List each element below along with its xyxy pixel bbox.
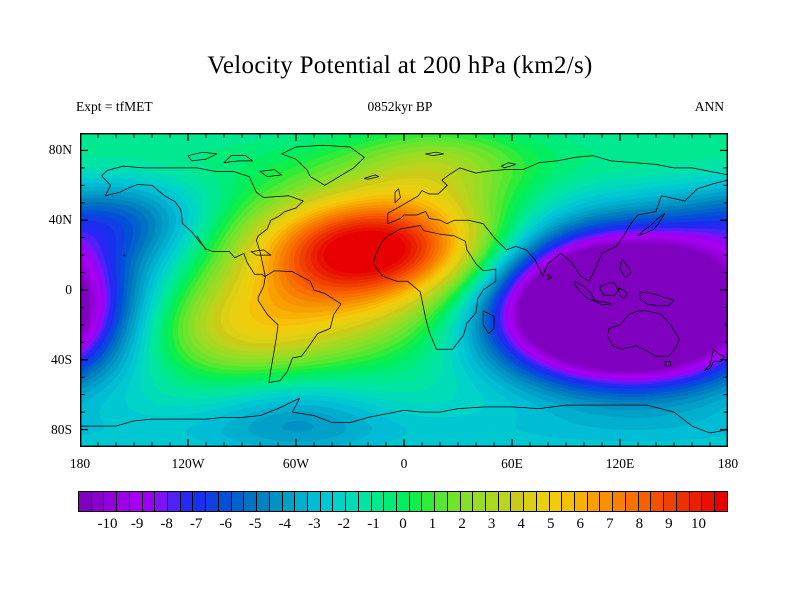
- colorbar-strip[interactable]: [78, 491, 728, 512]
- colorbar-cell: [333, 492, 346, 511]
- colorbar: [78, 491, 728, 512]
- contour-map-svg: [80, 133, 728, 447]
- colorbar-cell: [295, 492, 308, 511]
- y-tick-label: 40N: [26, 213, 72, 226]
- colorbar-cell: [143, 492, 156, 511]
- x-tick-label: 180: [698, 456, 758, 472]
- colorbar-cell: [283, 492, 296, 511]
- colorbar-cell: [537, 492, 550, 511]
- colorbar-cell: [130, 492, 143, 511]
- colorbar-cell: [550, 492, 563, 511]
- colorbar-cell: [308, 492, 321, 511]
- colorbar-cell: [473, 492, 486, 511]
- colorbar-tick-label: 10: [675, 516, 721, 533]
- colorbar-cell: [257, 492, 270, 511]
- colorbar-cell: [270, 492, 283, 511]
- colorbar-cell: [79, 492, 92, 511]
- colorbar-cell: [168, 492, 181, 511]
- colorbar-cell: [690, 492, 703, 511]
- colorbar-cell: [92, 492, 105, 511]
- x-tick-label: 60E: [482, 456, 542, 472]
- x-tick-label: 0: [374, 456, 434, 472]
- contour-field: [80, 133, 728, 447]
- y-tick-label: 40S: [26, 353, 72, 366]
- colorbar-cell: [626, 492, 639, 511]
- colorbar-cell: [410, 492, 423, 511]
- colorbar-cell: [104, 492, 117, 511]
- season-label: ANN: [0, 99, 724, 115]
- colorbar-cell: [397, 492, 410, 511]
- x-tick-label: 60W: [266, 456, 326, 472]
- x-tick-label: 120E: [590, 456, 650, 472]
- colorbar-cell: [511, 492, 524, 511]
- page-title: Velocity Potential at 200 hPa (km2/s): [0, 52, 800, 80]
- colorbar-cell: [613, 492, 626, 511]
- colorbar-cell: [524, 492, 537, 511]
- colorbar-cell: [702, 492, 715, 511]
- x-tick-label: 120W: [158, 456, 218, 472]
- colorbar-cell: [155, 492, 168, 511]
- y-tick-label: 80N: [26, 143, 72, 156]
- colorbar-cell: [435, 492, 448, 511]
- colorbar-cell: [359, 492, 372, 511]
- colorbar-cell: [677, 492, 690, 511]
- colorbar-cell: [486, 492, 499, 511]
- colorbar-cell: [244, 492, 257, 511]
- colorbar-cell: [715, 492, 727, 511]
- velocity-potential-figure: Velocity Potential at 200 hPa (km2/s) Ex…: [0, 0, 800, 600]
- colorbar-cell: [206, 492, 219, 511]
- colorbar-cell: [600, 492, 613, 511]
- colorbar-cell: [117, 492, 130, 511]
- colorbar-cell: [422, 492, 435, 511]
- y-tick-label: 0: [26, 283, 72, 296]
- colorbar-cell: [193, 492, 206, 511]
- colorbar-cell: [448, 492, 461, 511]
- colorbar-cell: [651, 492, 664, 511]
- colorbar-cell: [321, 492, 334, 511]
- colorbar-cell: [384, 492, 397, 511]
- colorbar-cell: [461, 492, 474, 511]
- x-tick-label: 180: [50, 456, 110, 472]
- map-plot-area: [80, 133, 728, 447]
- colorbar-cell: [232, 492, 245, 511]
- colorbar-cell: [639, 492, 652, 511]
- colorbar-cell: [588, 492, 601, 511]
- colorbar-cell: [562, 492, 575, 511]
- colorbar-cell: [372, 492, 385, 511]
- y-tick-label: 80S: [26, 423, 72, 436]
- colorbar-cell: [181, 492, 194, 511]
- colorbar-cell: [575, 492, 588, 511]
- colorbar-cell: [346, 492, 359, 511]
- colorbar-cell: [499, 492, 512, 511]
- colorbar-cell: [219, 492, 232, 511]
- colorbar-cell: [664, 492, 677, 511]
